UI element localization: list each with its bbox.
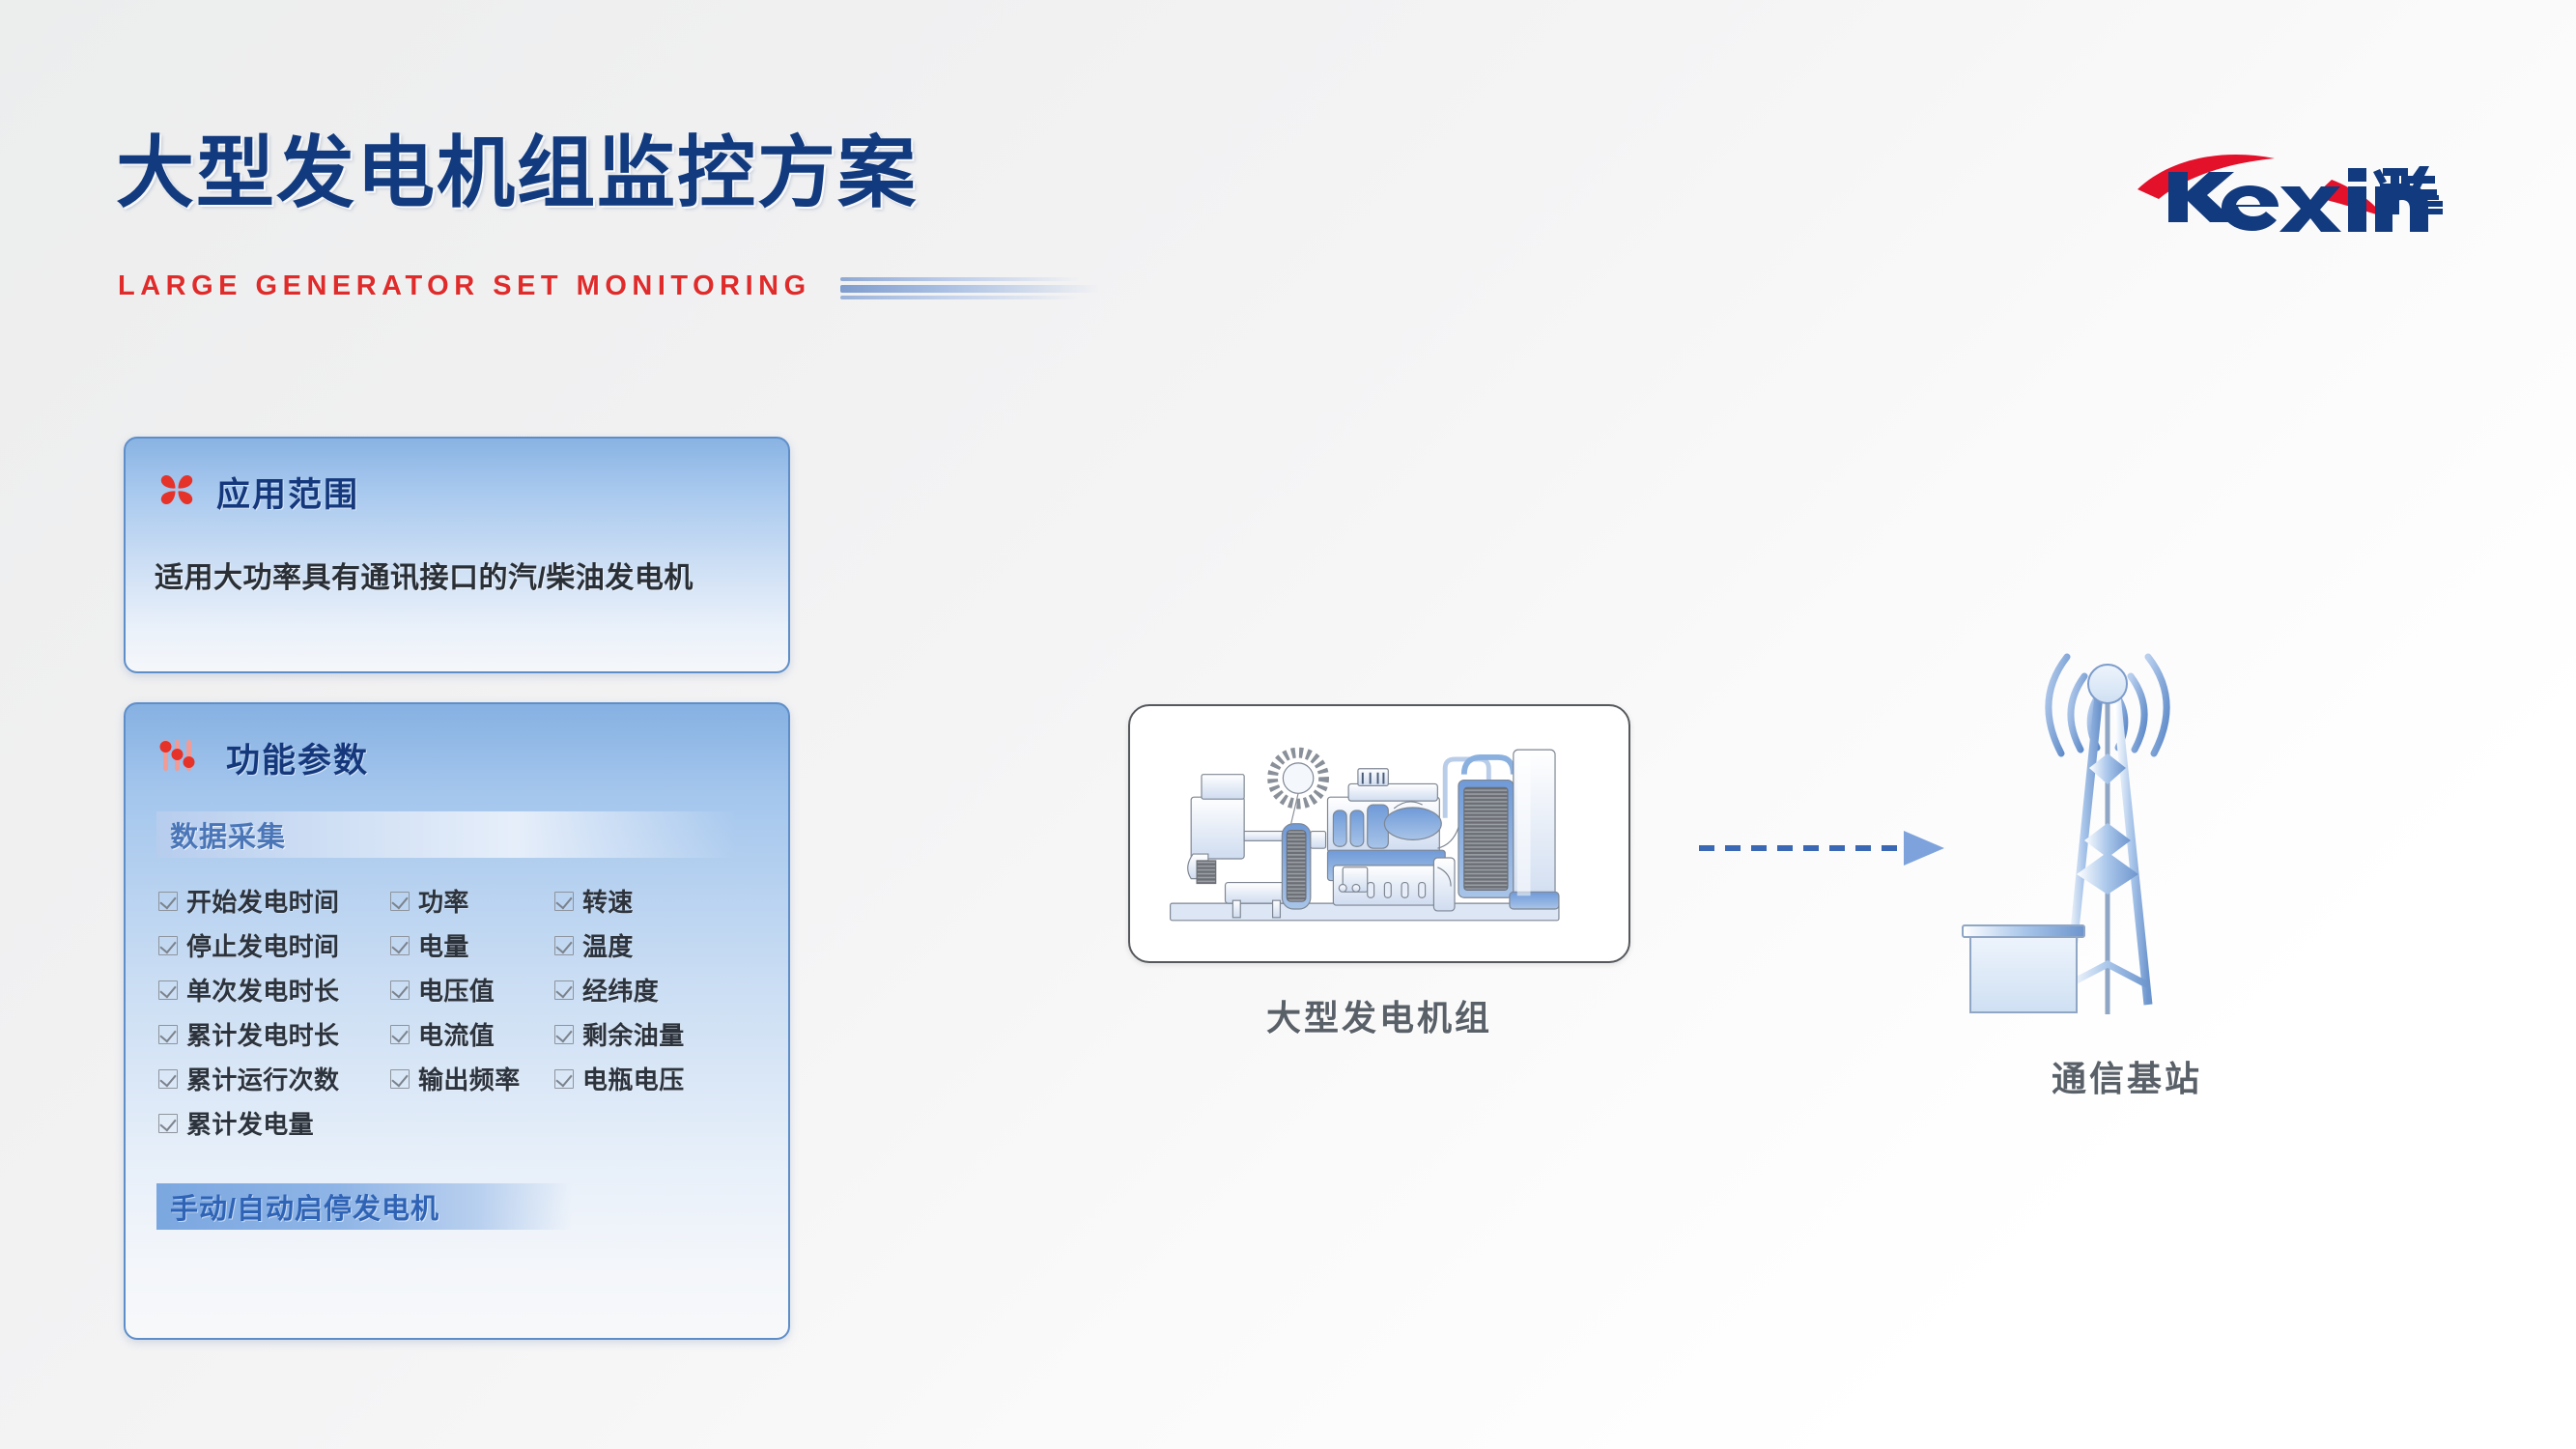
- page-header: 大型发电机组监控方案 LARGE GENERATOR SET MONITORIN…: [0, 0, 2576, 348]
- section-band-data-collection: 数据采集: [156, 811, 736, 858]
- checkbox-item[interactable]: 温度: [554, 927, 634, 963]
- checkbox-icon[interactable]: [390, 1025, 410, 1044]
- checkbox-item[interactable]: 单次发电时长: [158, 972, 390, 1008]
- checkbox-label: 功率: [418, 883, 469, 919]
- checkbox-icon[interactable]: [554, 1069, 574, 1089]
- checkbox-item[interactable]: 电压值: [390, 972, 554, 1008]
- checkbox-label: 输出频率: [418, 1061, 521, 1096]
- checkbox-label: 累计发电量: [186, 1105, 314, 1141]
- generator-illustration: [1130, 706, 1628, 960]
- checkbox-label: 单次发电时长: [186, 972, 339, 1008]
- communication-tower-illustration: [1953, 599, 2301, 1024]
- checkbox-icon[interactable]: [554, 1025, 574, 1044]
- kexin-logo: [2134, 147, 2452, 234]
- decorative-lines: [840, 269, 1101, 303]
- checkbox-item[interactable]: 功率: [390, 883, 554, 919]
- checkbox-icon[interactable]: [158, 1114, 178, 1133]
- scope-card-body: 适用大功率具有通讯接口的汽/柴油发电机: [126, 517, 788, 596]
- checkbox-item[interactable]: 累计运行次数: [158, 1061, 390, 1096]
- checkbox-label: 停止发电时间: [186, 927, 339, 963]
- checkbox-icon[interactable]: [158, 980, 178, 1000]
- checkbox-item[interactable]: 累计发电量: [158, 1105, 390, 1141]
- checkbox-icon[interactable]: [158, 936, 178, 955]
- section-band-manual-auto: 手动/自动启停发电机: [156, 1183, 572, 1230]
- page-subtitle: LARGE GENERATOR SET MONITORING: [118, 270, 811, 302]
- checkbox-icon[interactable]: [554, 980, 574, 1000]
- checkbox-item[interactable]: 剩余油量: [554, 1016, 685, 1052]
- scope-card: 应用范围 适用大功率具有通讯接口的汽/柴油发电机: [124, 437, 790, 673]
- checkbox-row: 开始发电时间 功率 转速: [158, 883, 738, 919]
- checkbox-icon[interactable]: [390, 980, 410, 1000]
- clover-icon: [158, 471, 195, 513]
- checkbox-label: 经纬度: [582, 972, 659, 1008]
- checkbox-row: 单次发电时长 电压值 经纬度: [158, 972, 738, 1008]
- checkbox-icon[interactable]: [390, 892, 410, 911]
- checkbox-icon[interactable]: [158, 1069, 178, 1089]
- checkbox-label: 剩余油量: [582, 1016, 685, 1052]
- sliders-icon: [158, 736, 197, 780]
- checkbox-icon[interactable]: [158, 892, 178, 911]
- checkbox-icon[interactable]: [554, 892, 574, 911]
- checkbox-label: 累计发电时长: [186, 1016, 339, 1052]
- checkbox-label: 电压值: [418, 972, 495, 1008]
- generator-image-card: [1128, 704, 1630, 963]
- function-card-title: 功能参数: [226, 733, 369, 782]
- checkbox-item[interactable]: 电量: [390, 927, 554, 963]
- dashed-arrow-right-icon: [1695, 826, 1956, 870]
- function-card: 功能参数 数据采集 开始发电时间 功率 转速 停止发电时间 电量 温度 单次发电…: [124, 702, 790, 1340]
- checkbox-item[interactable]: 累计发电时长: [158, 1016, 390, 1052]
- checkbox-row: 累计发电时长 电流值 剩余油量: [158, 1016, 738, 1052]
- tower-label: 通信基站: [1953, 1051, 2301, 1101]
- checkbox-item[interactable]: 输出频率: [390, 1061, 554, 1096]
- checkbox-item[interactable]: 转速: [554, 883, 634, 919]
- checkbox-label: 电瓶电压: [582, 1061, 685, 1096]
- checkbox-item[interactable]: 停止发电时间: [158, 927, 390, 963]
- checkbox-label: 累计运行次数: [186, 1061, 339, 1096]
- checkbox-row: 累计运行次数 输出频率 电瓶电压: [158, 1061, 738, 1096]
- checkbox-item[interactable]: 经纬度: [554, 972, 659, 1008]
- scope-card-title: 应用范围: [216, 468, 359, 517]
- function-card-header: 功能参数: [126, 704, 788, 782]
- parameter-checkbox-grid: 开始发电时间 功率 转速 停止发电时间 电量 温度 单次发电时长 电压值 经纬度…: [158, 883, 738, 1141]
- checkbox-label: 电量: [418, 927, 469, 963]
- scope-card-header: 应用范围: [126, 439, 788, 517]
- checkbox-row: 停止发电时间 电量 温度: [158, 927, 738, 963]
- checkbox-label: 温度: [582, 927, 634, 963]
- checkbox-item[interactable]: 电瓶电压: [554, 1061, 685, 1096]
- checkbox-label: 开始发电时间: [186, 883, 339, 919]
- page-title: 大型发电机组监控方案: [116, 135, 918, 213]
- checkbox-row: 累计发电量: [158, 1105, 738, 1141]
- checkbox-label: 转速: [582, 883, 634, 919]
- checkbox-icon[interactable]: [554, 936, 574, 955]
- checkbox-item[interactable]: 电流值: [390, 1016, 554, 1052]
- subtitle-row: LARGE GENERATOR SET MONITORING: [118, 269, 1101, 303]
- checkbox-icon[interactable]: [158, 1025, 178, 1044]
- checkbox-label: 电流值: [418, 1016, 495, 1052]
- generator-label: 大型发电机组: [1128, 990, 1630, 1040]
- checkbox-item[interactable]: 开始发电时间: [158, 883, 390, 919]
- checkbox-icon[interactable]: [390, 936, 410, 955]
- checkbox-icon[interactable]: [390, 1069, 410, 1089]
